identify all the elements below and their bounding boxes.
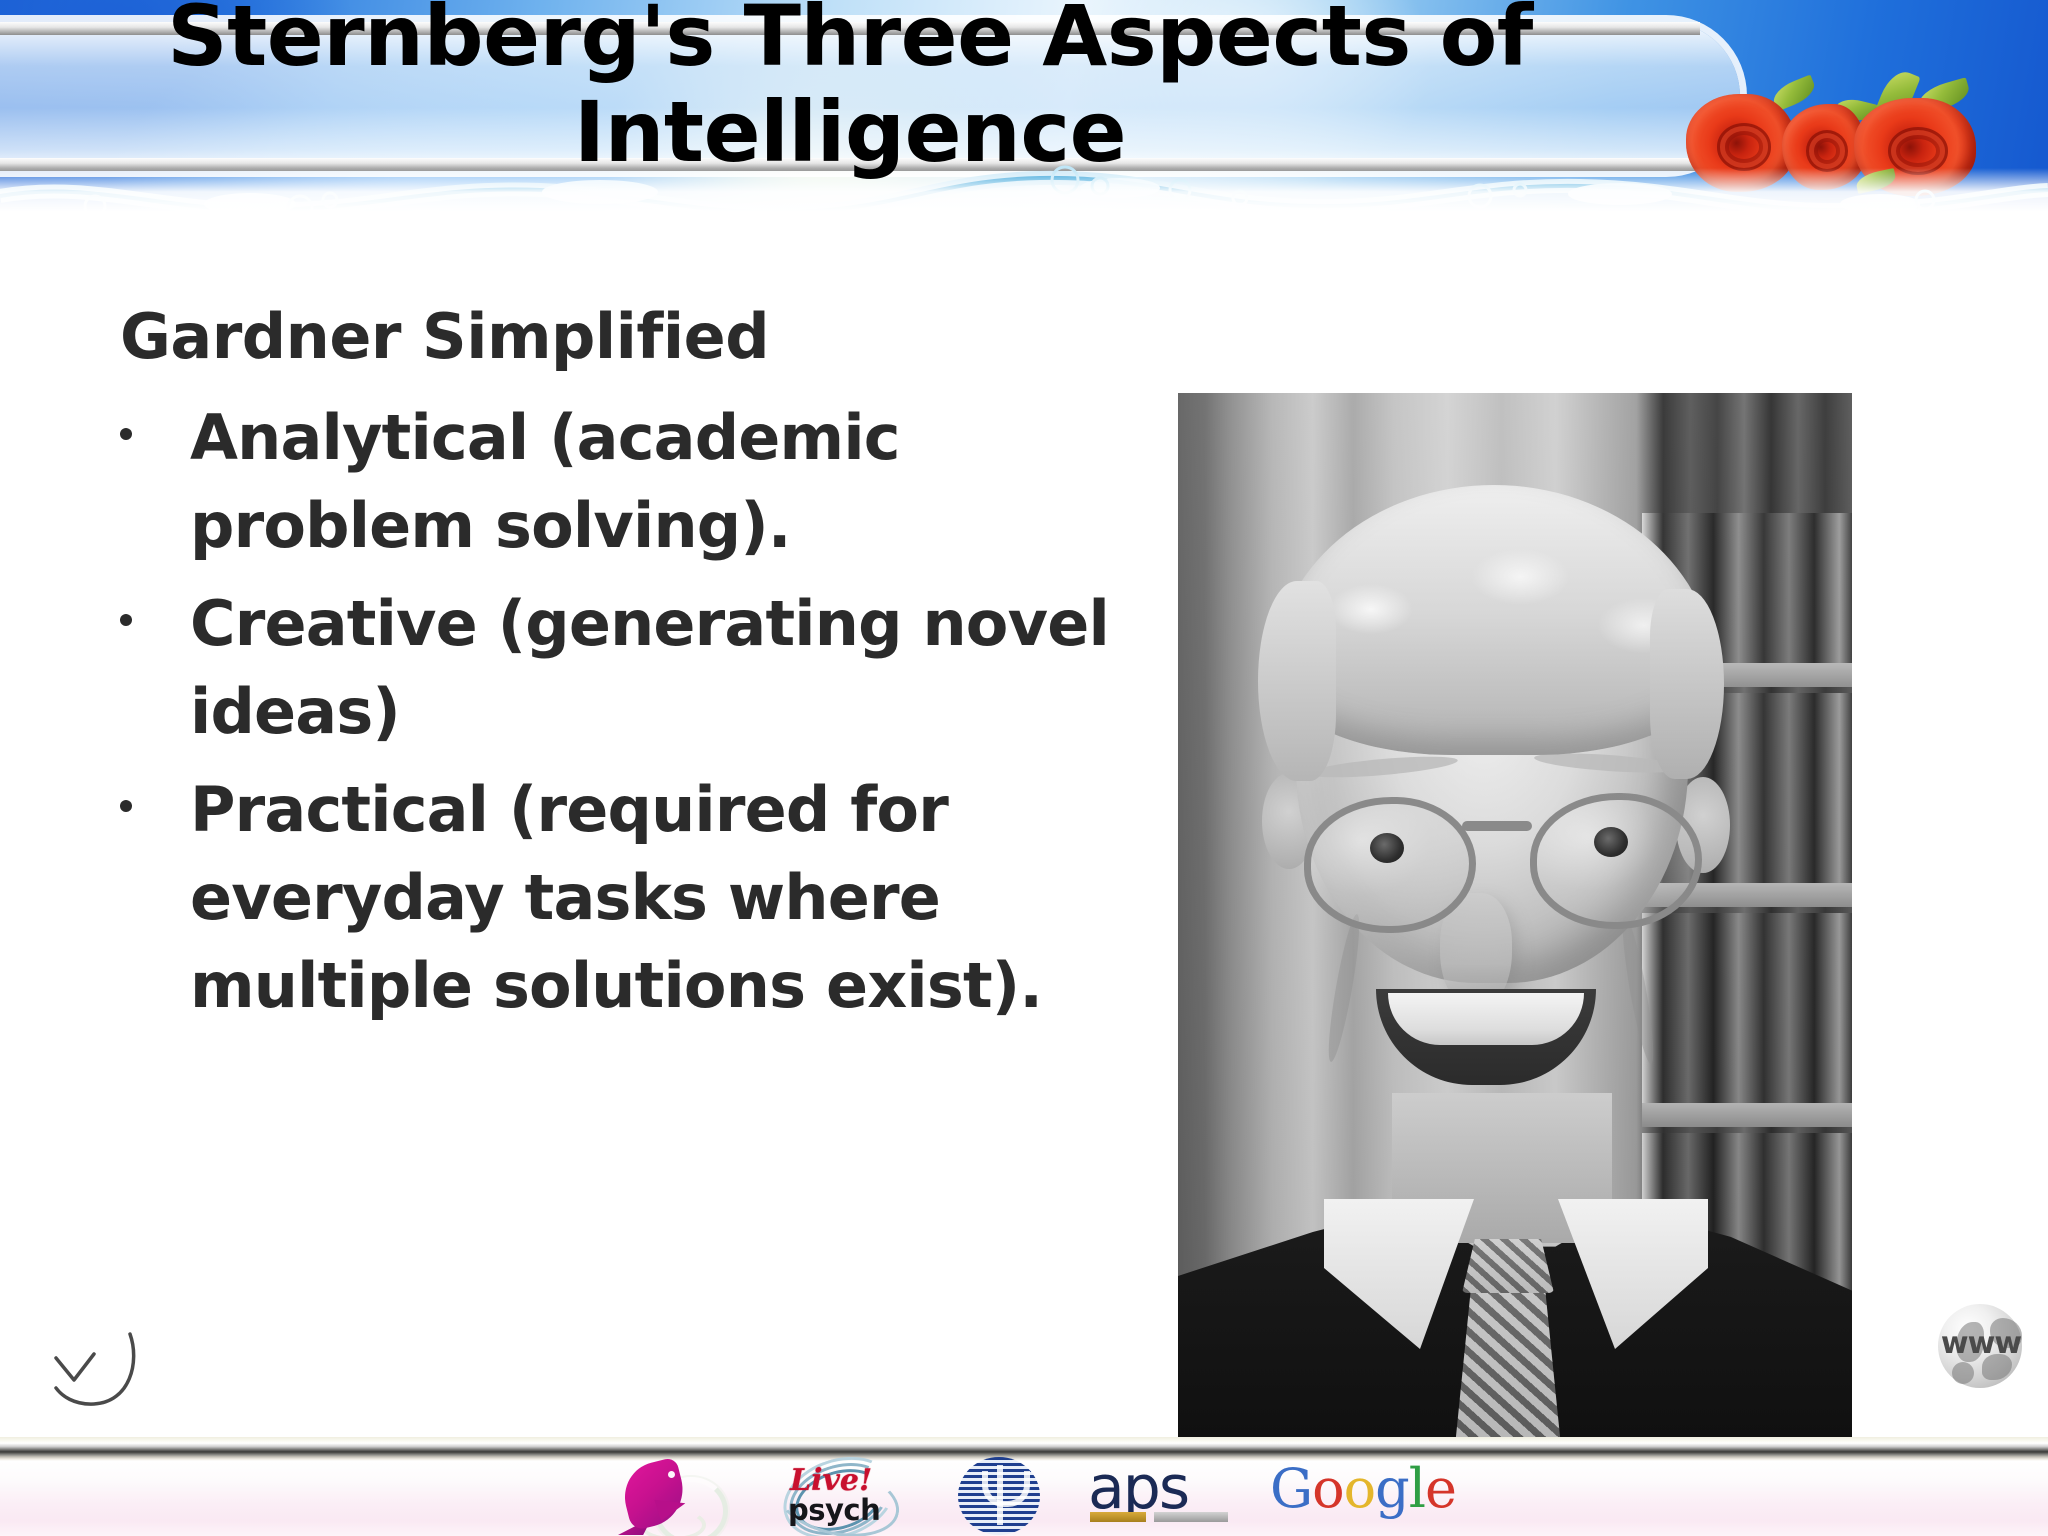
globe-landmass [1952, 1362, 1974, 1384]
glasses-bridge [1462, 821, 1532, 831]
back-arrow-icon[interactable] [34, 1318, 142, 1418]
lens-left [1304, 797, 1476, 933]
psi-symbol-icon [980, 1465, 1020, 1525]
psych-label: psych [788, 1493, 880, 1527]
footer-logo-strip: Live! psych aps Google [610, 1455, 1450, 1536]
live-psych-logo[interactable]: Live! psych [772, 1455, 922, 1536]
google-letter-l: l [1409, 1457, 1425, 1520]
list-item: Practical (required for everyday tasks w… [112, 766, 1122, 1030]
www-label: www [1930, 1326, 2032, 1361]
bullet-text-column: Gardner Simplified Analytical (academic … [112, 298, 1122, 1040]
aps-grey-bar [1154, 1512, 1228, 1522]
eye-left [1370, 833, 1404, 863]
list-item-label: Analytical (academic problem solving). [190, 401, 900, 562]
lens-right [1530, 793, 1702, 929]
google-wordmark: Google [1270, 1457, 1456, 1520]
fish-logo[interactable] [610, 1455, 730, 1536]
portrait-photo [1178, 393, 1852, 1437]
bullet-list: Analytical (academic problem solving). C… [112, 394, 1122, 1030]
portrait-photo-image [1178, 393, 1852, 1437]
google-letter-e: e [1425, 1457, 1456, 1520]
teeth [1388, 993, 1584, 1045]
eye-right [1594, 827, 1628, 857]
fish-eye [668, 1471, 675, 1478]
book-row [1642, 913, 1852, 1103]
aps-gold-bar [1090, 1512, 1146, 1522]
apa-logo[interactable] [944, 1455, 1062, 1536]
aps-logo[interactable]: aps [1088, 1455, 1248, 1536]
google-logo[interactable]: Google [1270, 1455, 1450, 1536]
google-letter-o2: o [1344, 1457, 1376, 1520]
google-letter-o1: o [1312, 1457, 1344, 1520]
slide-root: Sternberg's Three Aspects of Intelligenc… [0, 0, 2048, 1536]
lead-heading: Gardner Simplified [120, 298, 1122, 376]
shelf-board [1642, 1103, 1852, 1127]
bullet-dot-icon [120, 614, 132, 626]
google-letter-g1: G [1270, 1457, 1312, 1520]
necktie-knot [1462, 1239, 1554, 1293]
header-banner: Sternberg's Three Aspects of Intelligenc… [0, 0, 2048, 232]
list-item: Creative (generating novel ideas) [112, 580, 1122, 756]
list-item-label: Creative (generating novel ideas) [190, 587, 1109, 748]
bullet-dot-icon [120, 428, 132, 440]
list-item: Analytical (academic problem solving). [112, 394, 1122, 570]
www-globe-icon[interactable]: www [1930, 1300, 2032, 1402]
eyeglasses-icon [1298, 793, 1698, 923]
bullet-dot-icon [120, 800, 132, 812]
list-item-label: Practical (required for everyday tasks w… [190, 773, 1042, 1022]
page-title: Sternberg's Three Aspects of Intelligenc… [0, 0, 1700, 180]
apa-striped-oval [958, 1457, 1040, 1535]
google-letter-g2: g [1375, 1457, 1409, 1520]
